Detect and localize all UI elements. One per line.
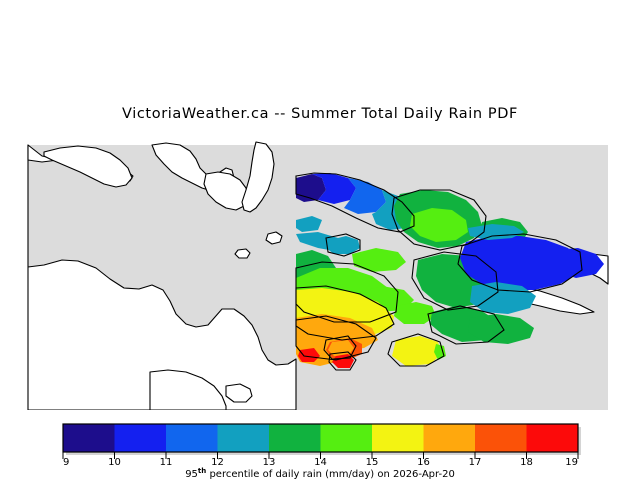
colorbar-band-15-16[interactable] (372, 424, 424, 452)
tick-label-9: 18 (520, 457, 533, 468)
tick-label-1: 10 (108, 457, 121, 468)
colorbar-bands[interactable] (63, 424, 578, 452)
tick-label-8: 17 (469, 457, 482, 468)
colorbar-band-13-14[interactable] (269, 424, 321, 452)
legend-container[interactable]: 9 10 11 12 13 14 15 16 17 18 19 95th per… (0, 418, 640, 480)
caption-prefix: 95 (185, 469, 198, 480)
map-container[interactable] (0, 128, 640, 410)
tick-label-10: 19 (565, 457, 578, 468)
tick-label-5: 14 (314, 457, 327, 468)
tick-label-0: 9 (63, 457, 69, 468)
svg-text:95th percentile of daily rain: 95th percentile of daily rain (mm/day) o… (185, 467, 455, 480)
colorbar-svg[interactable]: 9 10 11 12 13 14 15 16 17 18 19 95th per… (0, 418, 640, 480)
colorbar-band-11-12[interactable] (166, 424, 218, 452)
colorbar-band-18-19[interactable] (527, 424, 579, 452)
land-islet-b (235, 249, 250, 258)
caption-superscript: th (198, 467, 206, 475)
colorbar-band-14-15[interactable] (321, 424, 373, 452)
land-islet-a (266, 232, 282, 244)
colorbar-band-17-18[interactable] (475, 424, 527, 452)
colorbar-caption: 95th percentile of daily rain (mm/day) o… (185, 467, 455, 480)
tick-label-2: 11 (160, 457, 173, 468)
tick-label-6: 15 (366, 457, 379, 468)
tick-label-4: 13 (263, 457, 276, 468)
colorbar-band-9-10[interactable] (63, 424, 115, 452)
tick-label-3: 12 (211, 457, 224, 468)
screenshot-root: VictoriaWeather.ca -- Summer Total Daily… (0, 0, 640, 480)
colorbar-band-10-11[interactable] (115, 424, 167, 452)
page-title: VictoriaWeather.ca -- Summer Total Daily… (0, 106, 640, 122)
caption-rest: percentile of daily rain (mm/day) on 202… (206, 469, 455, 480)
colorbar-band-16-17[interactable] (424, 424, 476, 452)
map-svg[interactable] (0, 128, 640, 410)
tick-label-7: 16 (417, 457, 430, 468)
colorbar-tick-labels: 9 10 11 12 13 14 15 16 17 18 19 (63, 457, 578, 468)
colorbar-band-12-13[interactable] (218, 424, 270, 452)
